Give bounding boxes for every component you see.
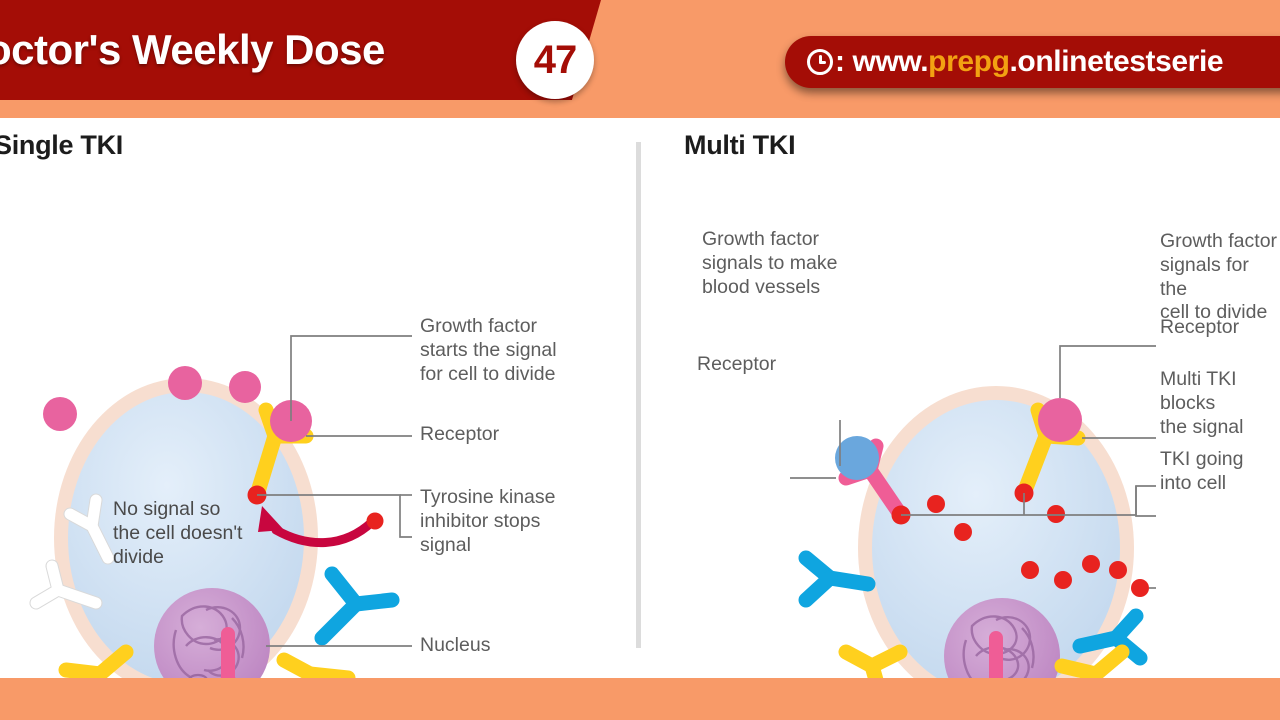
leader-lines [257,336,1156,646]
receptor-white-lower [36,566,96,603]
label-growth-factor-blood-vessels: Growth factor signals to make blood vess… [702,228,837,299]
panel-title-left: Single TKI [0,130,123,161]
label-tki-going-into-cell: TKI going into cell [1160,448,1243,496]
growth-factor-dot [229,371,261,403]
receptor-yellow-bound-right [1024,410,1078,493]
tki-dot [248,486,267,505]
receptor-yellow-right-lower [1062,652,1122,678]
tki-dot [927,495,945,513]
url-prefix: : www. [835,45,928,78]
receptor-blue-bound-right [846,446,900,514]
receptor-yellow-right-left [846,652,900,678]
clock-icon [807,49,833,75]
blocked-signal-arrow [258,506,372,543]
receptor-blue-right-right [1080,616,1140,658]
growth-factor-blue-bound [835,436,879,480]
receptor-yellow-bound-left [257,410,306,495]
tki-dot [1082,555,1100,573]
url-suffix: .onlinetestserie [1010,45,1224,78]
issue-number-badge: 47 [516,21,594,99]
receptor-pink-right [974,638,1018,678]
label-multi-tki-blocks: Multi TKI blocks the signal [1160,368,1243,439]
receptor-yellow-left-lower [66,652,126,678]
receptor-blue-right-left [806,558,868,600]
content-area: Single TKI Multi TKI [0,118,1280,678]
label-receptor-right-right: Receptor [1160,316,1239,340]
tki-dot [367,513,384,530]
panel-divider [636,142,641,648]
tki-dot [1021,561,1039,579]
label-growth-factor-left: Growth factor starts the signal for cell… [420,315,557,386]
label-no-signal: No signal so the cell doesn't divide [113,498,242,569]
right-cell-group [806,386,1149,678]
website-url-text: : www.prepg.onlinetestserie [835,45,1223,79]
infographic-canvas: octor's Weekly Dose 47 : www.prepg.onlin… [0,0,1280,720]
nucleus-right [944,598,1060,678]
panel-title-right: Multi TKI [684,130,795,161]
cytoplasm-right [872,400,1120,678]
growth-factor-bound-right [1038,398,1082,442]
url-highlight: prepg [928,45,1009,78]
label-tyrosine-kinase-inhibitor: Tyrosine kinase inhibitor stops signal [420,486,555,557]
nucleus-left [154,588,270,678]
growth-factor-dot [43,397,77,431]
tki-dot [954,523,972,541]
tki-dot [1109,561,1127,579]
header-band: octor's Weekly Dose 47 : www.prepg.onlin… [0,0,1280,118]
growth-factor-dot [168,366,202,400]
receptor-blue-left [322,574,392,638]
tki-dot [1047,505,1065,523]
website-url-pill[interactable]: : www.prepg.onlinetestserie [785,36,1280,88]
tki-dot [1054,571,1072,589]
receptor-pink-left [206,634,250,678]
cell-membrane-right [858,386,1134,678]
label-receptor-right-left: Receptor [697,353,776,377]
tki-dot [892,506,911,525]
receptor-white-upper [70,500,108,558]
banner-title: octor's Weekly Dose [0,26,385,74]
footer-band [0,678,1280,720]
growth-factor-bound-left [270,400,312,442]
label-growth-factor-divide: Growth factor signals for the cell to di… [1160,230,1280,325]
tki-dot [1015,484,1034,503]
label-receptor-left: Receptor [420,423,499,447]
receptor-yellow-left-right [284,660,348,678]
tki-dot-entering [1131,579,1149,597]
issue-number-text: 47 [534,40,577,80]
label-nucleus-left: Nucleus [420,634,490,658]
